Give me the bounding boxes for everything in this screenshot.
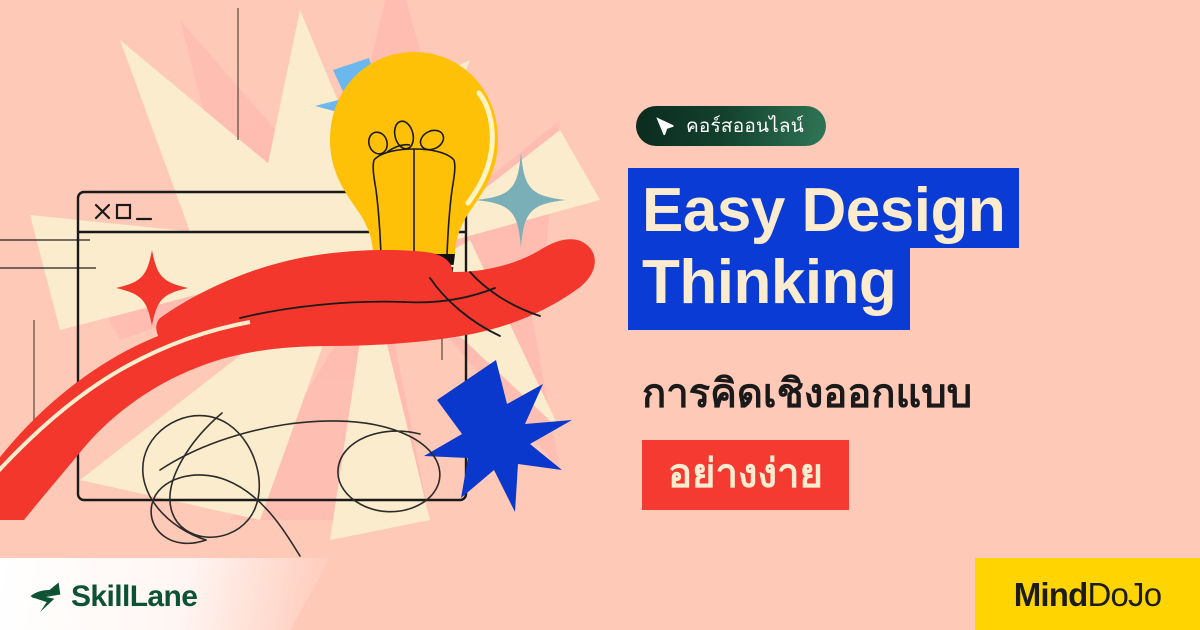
minddojo-wordmark-light: DoJo [1087,576,1161,613]
paper-plane-icon [654,115,676,137]
minddojo-logo-block[interactable]: MindDoJo [975,558,1200,630]
subtitle-thai: การคิดเชิงออกแบบ [642,372,972,416]
browser-maximize-glyph [117,205,130,218]
title-block: Easy Design Thinking [628,168,1019,330]
skilllane-logo[interactable]: SkillLane [28,580,197,614]
skilllane-wordmark: SkillLane [71,582,197,612]
poster-canvas: คอร์สออนไลน์ Easy Design Thinking การคิด… [0,0,1200,630]
highlight-thai: อย่างง่าย [642,440,849,510]
browser-close-glyph [96,205,109,218]
illustration-hand-holding-lightbulb [0,0,620,560]
course-type-label: คอร์สออนไลน์ [686,117,804,136]
minddojo-wordmark-bold: Mind [1014,576,1088,613]
skilllane-arrow-mark-icon [28,580,62,614]
title-line-1: Easy Design [628,168,1019,248]
minddojo-wordmark: MindDoJo [1014,578,1162,611]
title-line-2: Thinking [628,248,910,330]
course-type-badge: คอร์สออนไลน์ [636,106,826,146]
content-column: คอร์สออนไลน์ Easy Design Thinking การคิด… [628,0,1200,560]
